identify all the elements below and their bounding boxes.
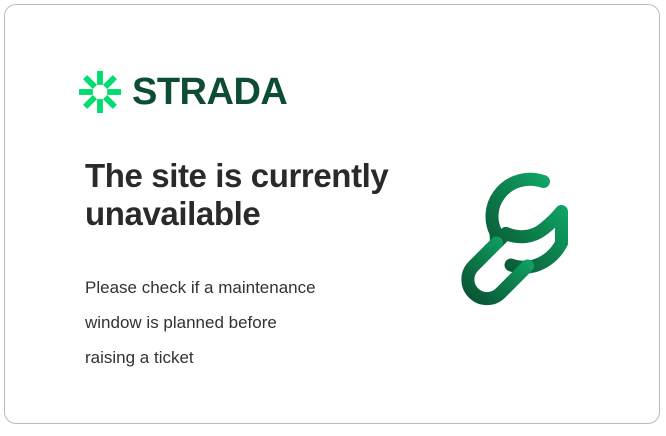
description-line-3: raising a ticket [85,341,395,376]
description-line-1: Please check if a maintenance [85,271,395,306]
brand-wordmark: STRADA [132,73,287,111]
description-line-2: window is planned before [85,306,395,341]
asterisk-star-icon [79,71,121,113]
wrench-icon [457,157,617,319]
brand-lockup: STRADA [79,71,287,113]
page-title: The site is currently unavailable [85,157,415,234]
page-description: Please check if a maintenance window is … [85,271,395,376]
status-card: STRADA The site is currently unavailable… [4,4,660,424]
